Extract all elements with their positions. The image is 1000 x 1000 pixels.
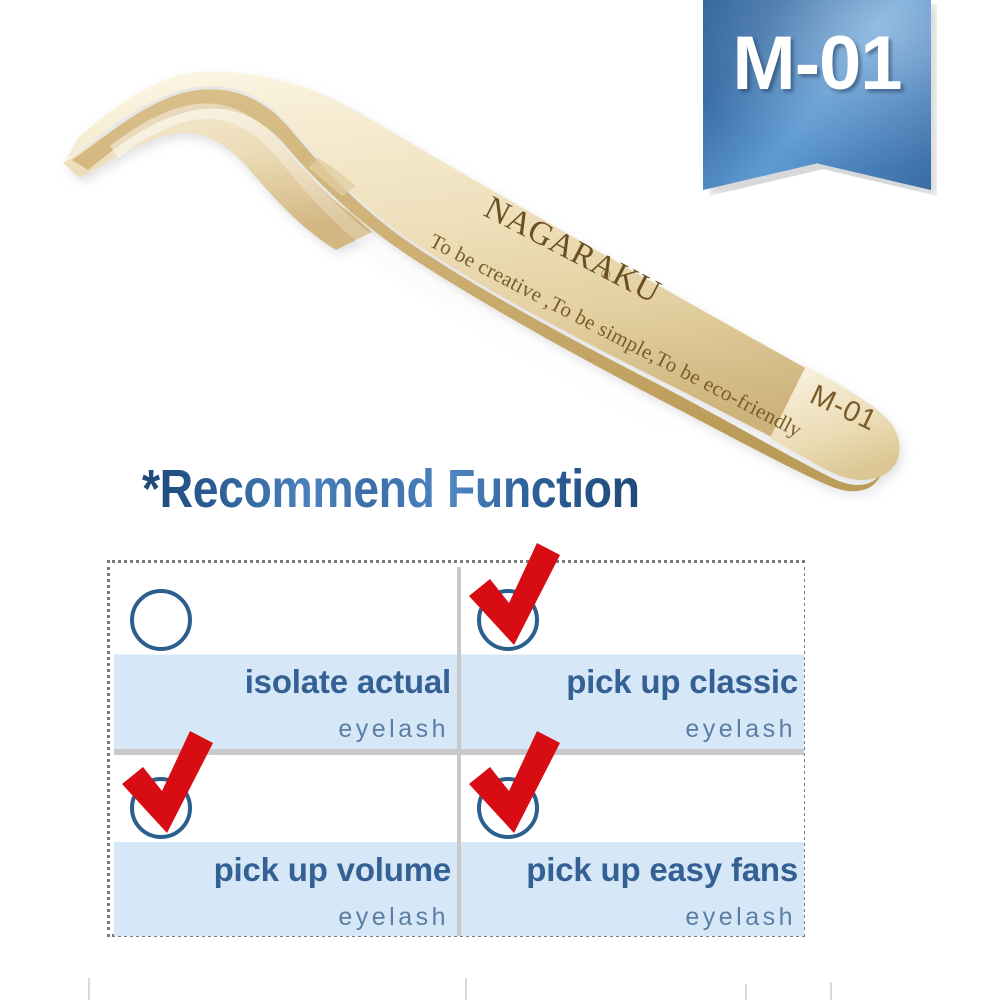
feature-subtitle: eyelash (338, 715, 449, 744)
footer-tick-1 (465, 978, 467, 1000)
feature-mark-1 (471, 575, 545, 649)
model-badge-label: M-01 (732, 26, 901, 102)
footer-tick-3 (830, 982, 832, 1000)
feature-cell-isolate-actual[interactable]: isolate actual eyelash (114, 567, 457, 749)
feature-cells: isolate actual eyelash pick up classic e… (114, 567, 804, 936)
feature-title: pick up volume (214, 851, 451, 889)
feature-title: isolate actual (245, 663, 451, 701)
tweezer-brand-engraving: NAGARAKU (479, 190, 667, 311)
recommend-function-grid: isolate actual eyelash pick up classic e… (107, 560, 805, 937)
feature-subtitle: eyelash (685, 715, 796, 744)
feature-title: pick up classic (566, 663, 798, 701)
footer-tick-0 (88, 978, 90, 1000)
tweezer-registered-mark: ® (598, 265, 614, 283)
check-icon (120, 729, 226, 847)
page-title: *Recommend Function (142, 458, 640, 520)
feature-subtitle: eyelash (338, 903, 449, 932)
circle-icon (130, 589, 192, 651)
footer-tick-2 (745, 984, 747, 1000)
feature-cell-pick-up-classic[interactable]: pick up classic eyelash (461, 567, 804, 749)
feature-mark-2 (124, 763, 198, 837)
check-icon (467, 541, 573, 659)
feature-mark-3 (471, 763, 545, 837)
feature-cell-pick-up-volume[interactable]: pick up volume eyelash (114, 755, 457, 937)
tweezer-model-engraving: M-01 (805, 379, 882, 438)
model-badge: M-01 (703, 0, 931, 190)
feature-cell-pick-up-easy-fans[interactable]: pick up easy fans eyelash (461, 755, 804, 937)
feature-mark-0 (124, 575, 198, 649)
product-graphic-page: M-01 (0, 0, 1000, 1000)
feature-title: pick up easy fans (526, 851, 798, 889)
tweezer-tagline-engraving: To be creative ,To be simple,To be eco-f… (426, 229, 806, 442)
feature-subtitle: eyelash (685, 903, 796, 932)
check-icon (467, 729, 573, 847)
